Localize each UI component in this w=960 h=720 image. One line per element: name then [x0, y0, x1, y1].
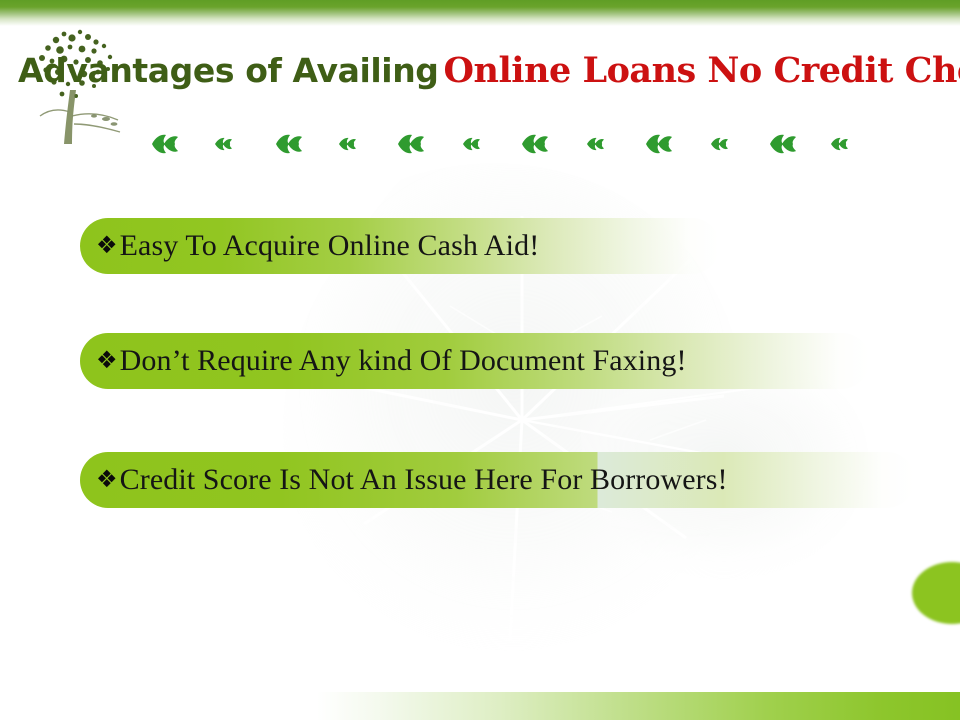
title-emphasis: Online Loans No Credit Check: [444, 50, 960, 91]
leaf-arrow-strip: [150, 128, 850, 160]
diamond-bullet-icon: ❖: [96, 465, 118, 493]
right-edge-accent-blob: [912, 562, 960, 624]
bullet-label: Credit Score Is Not An Issue Here For Bo…: [120, 463, 728, 496]
leaf-arrow-icon: [586, 136, 605, 152]
leaf-arrow-icon: [520, 132, 550, 156]
leaf-watermark: [150, 120, 910, 680]
leaf-arrow-icon: [644, 132, 674, 156]
diamond-bullet-icon: ❖: [96, 231, 118, 259]
leaf-arrow-icon: [710, 136, 729, 152]
leaf-arrow-icon: [150, 132, 180, 156]
diamond-bullet-icon: ❖: [96, 346, 118, 374]
bottom-accent-bar: [0, 692, 960, 720]
bullet-pill: ❖Easy To Acquire Online Cash Aid!: [80, 218, 720, 274]
page-title: Advantages of AvailingOnline Loans No Cr…: [18, 50, 948, 102]
leaf-arrow-icon: [214, 136, 233, 152]
bullet-text: ❖Credit Score Is Not An Issue Here For B…: [80, 463, 728, 497]
leaf-arrow-icon: [338, 136, 357, 152]
bullet-text: ❖Don’t Require Any kind Of Document Faxi…: [80, 344, 687, 378]
bullet-pill: ❖Credit Score Is Not An Issue Here For B…: [80, 452, 915, 508]
slide-canvas: Advantages of AvailingOnline Loans No Cr…: [0, 0, 960, 720]
title-lead: Advantages of Availing: [18, 51, 439, 90]
slide-header: Advantages of AvailingOnline Loans No Cr…: [0, 24, 960, 144]
leaf-arrow-icon: [274, 132, 304, 156]
leaf-arrow-icon: [462, 136, 481, 152]
bullet-label: Easy To Acquire Online Cash Aid!: [120, 229, 540, 262]
bullet-pill: ❖Don’t Require Any kind Of Document Faxi…: [80, 333, 870, 389]
top-accent-bar: [0, 0, 960, 26]
leaf-arrow-icon: [768, 132, 798, 156]
leaf-arrow-icon: [830, 136, 849, 152]
bullet-label: Don’t Require Any kind Of Document Faxin…: [120, 344, 687, 377]
leaf-arrow-icon: [396, 132, 426, 156]
bullet-text: ❖Easy To Acquire Online Cash Aid!: [80, 229, 539, 263]
